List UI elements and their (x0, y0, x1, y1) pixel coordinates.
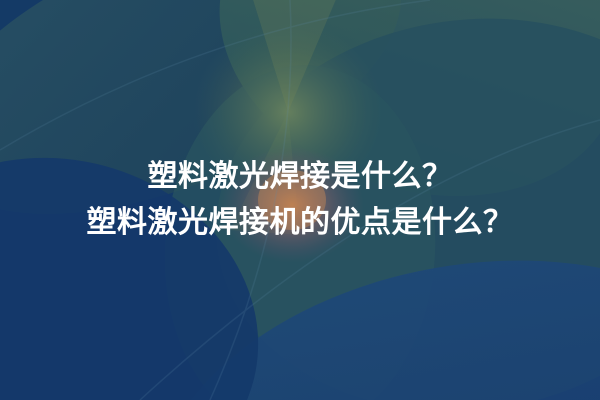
glow-warm-core (220, 147, 364, 263)
banner-canvas: 塑料激光焊接是什么？ 塑料激光焊接机的优点是什么？ (0, 0, 600, 400)
abstract-flower-background (0, 0, 600, 400)
